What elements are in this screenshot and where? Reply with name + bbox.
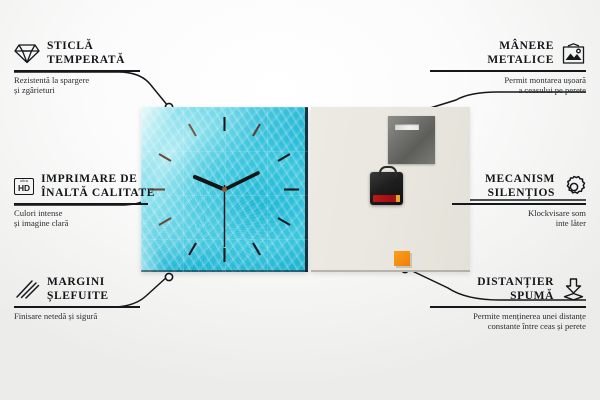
gear-icon bbox=[562, 175, 586, 199]
clock-center-cap bbox=[222, 187, 227, 192]
callout-title-line1: DISTANȚIER bbox=[477, 276, 554, 290]
hour-hand bbox=[195, 177, 225, 190]
callout-subtitle-line1: Finisare netedă și sigură bbox=[14, 311, 154, 322]
callout-title-line2: ÎNALTĂ CALITATE bbox=[41, 187, 155, 201]
callout-title-line1: MÂNERE bbox=[487, 40, 554, 54]
callout-title-line2: SPUMĂ bbox=[477, 290, 554, 304]
callout-rule bbox=[14, 203, 148, 205]
callout-foam-spacer: DISTANȚIER SPUMĂ Permite menținerea unei… bbox=[430, 276, 586, 332]
callout-title-line2: ȘLEFUITE bbox=[47, 290, 109, 304]
callout-title-line2: METALICE bbox=[487, 54, 554, 68]
glass-clock-face-panel bbox=[141, 107, 308, 272]
callout-subtitle-line2: și imagine clară bbox=[14, 218, 162, 229]
callout-high-quality-print: ultra HD IMPRIMARE DE ÎNALTĂ CALITATE Cu… bbox=[14, 173, 162, 229]
callout-subtitle-line2: a ceasului pe perete bbox=[430, 85, 586, 96]
callout-title-line2: TEMPERATĂ bbox=[47, 54, 125, 68]
callout-subtitle-line1: Permite menținerea unei distanțe bbox=[430, 311, 586, 322]
callout-title-line1: MARGINI bbox=[47, 276, 109, 290]
diamond-icon bbox=[14, 43, 40, 64]
callout-rule bbox=[430, 306, 586, 308]
callout-title-line1: STICLĂ bbox=[47, 40, 125, 54]
callout-subtitle-line1: Rezistentă la spargere bbox=[14, 75, 154, 86]
minute-hand bbox=[225, 173, 259, 190]
callout-subtitle-line1: Culori intense bbox=[14, 208, 162, 219]
callout-metal-handles: MÂNERE METALICE Permit montarea ușoară a… bbox=[430, 40, 586, 96]
movement-hanging-loop bbox=[379, 166, 397, 177]
battery-positive-tip bbox=[396, 195, 400, 202]
callout-title-line1: MECANISM bbox=[485, 173, 555, 187]
callout-subtitle-line2: și zgârieturi bbox=[14, 85, 154, 96]
callout-rule bbox=[14, 306, 140, 308]
callout-subtitle-line1: Klockvisare som bbox=[452, 208, 586, 219]
endpoint-edges bbox=[165, 273, 172, 280]
callout-subtitle-line2: inte låter bbox=[452, 218, 586, 229]
callout-rule bbox=[452, 203, 586, 205]
picture-hanger-icon bbox=[561, 43, 586, 65]
callout-subtitle-line1: Permit montarea ușoară bbox=[430, 75, 586, 86]
callout-silent-mechanism: MECANISM SILENȚIOS Klockvisare som inte … bbox=[452, 173, 586, 229]
clock-dial bbox=[141, 107, 308, 272]
callout-polished-edges: MARGINI ȘLEFUITE Finisare netedă și sigu… bbox=[14, 276, 154, 321]
callout-subtitle-line2: constante între ceas și perete bbox=[430, 321, 586, 332]
callout-rule bbox=[14, 70, 140, 72]
down-arrow-stack-icon bbox=[561, 278, 586, 301]
foam-spacer bbox=[394, 251, 410, 266]
callout-title-line1: IMPRIMARE DE bbox=[41, 173, 155, 187]
callout-title-line2: SILENȚIOS bbox=[485, 187, 555, 201]
callout-tempered-glass: STICLĂ TEMPERATĂ Rezistentă la spargere … bbox=[14, 40, 154, 96]
callout-rule bbox=[430, 70, 586, 72]
infographic-canvas: STICLĂ TEMPERATĂ Rezistentă la spargere … bbox=[0, 0, 600, 400]
hanger-keyhole-slot bbox=[395, 124, 419, 130]
ultra-hd-badge-big-label: HD bbox=[18, 184, 30, 192]
ultra-hd-badge-icon: ultra HD bbox=[14, 178, 34, 195]
diagonal-lines-icon bbox=[14, 279, 40, 300]
